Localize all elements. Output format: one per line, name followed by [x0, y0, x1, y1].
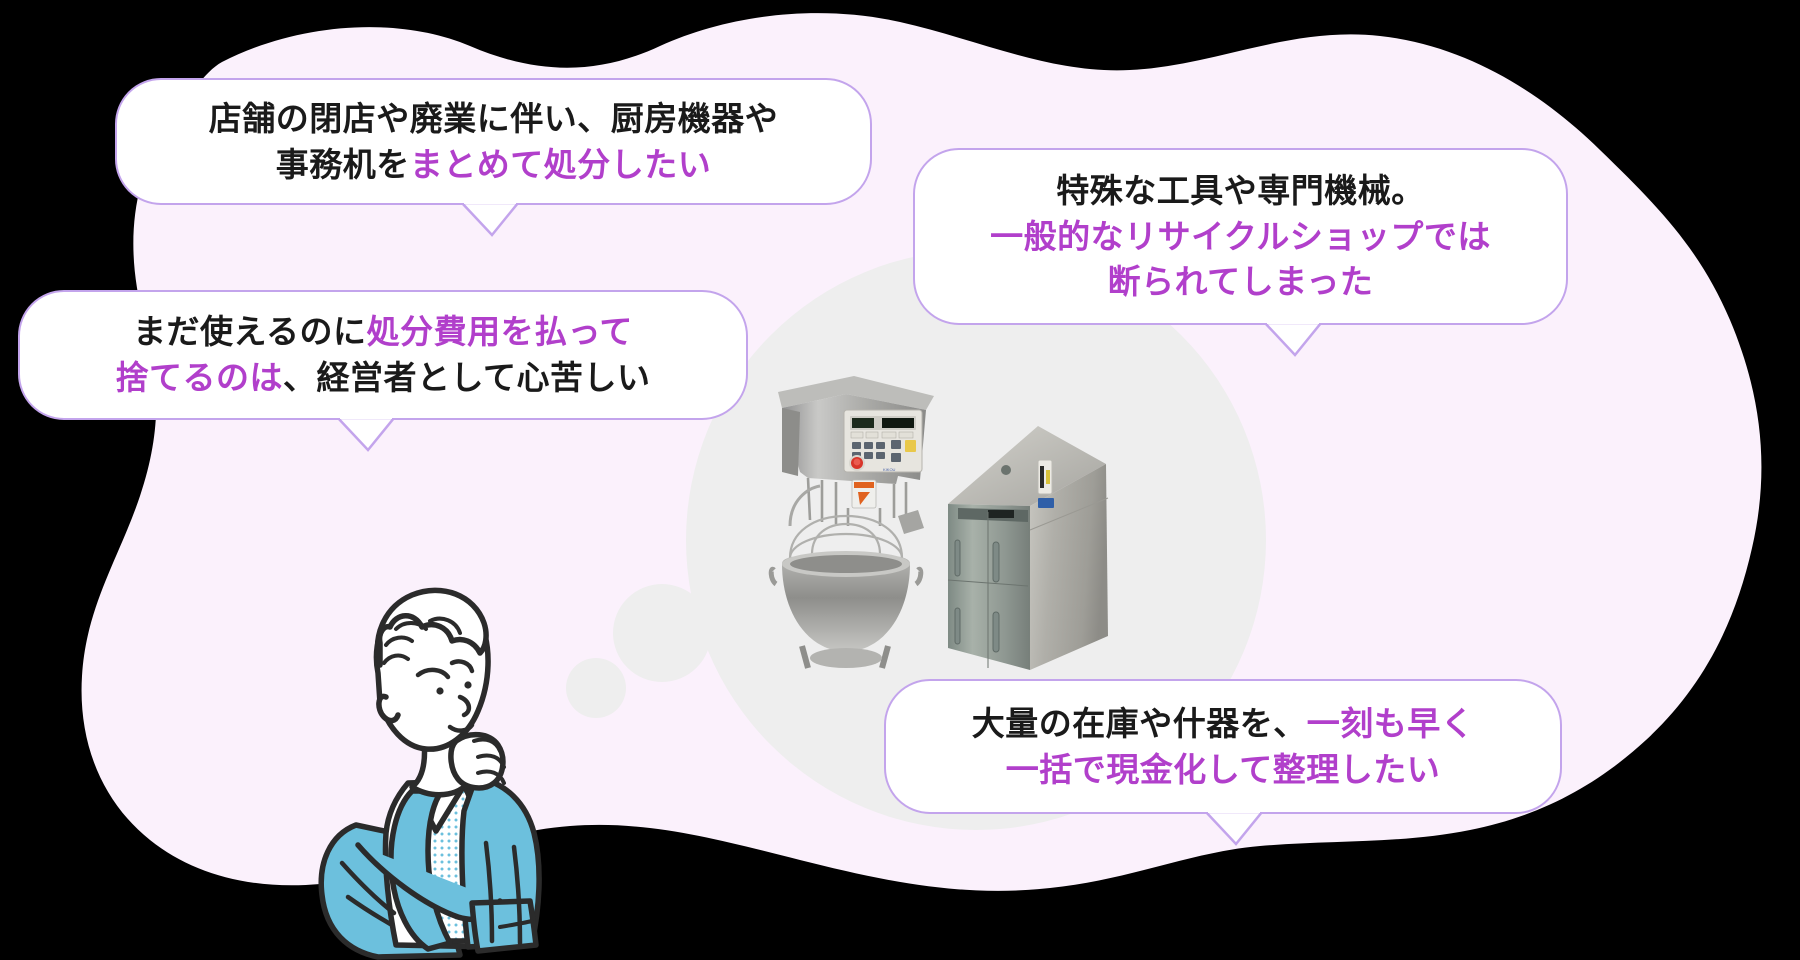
speech-bubble-tail	[338, 418, 394, 452]
speech-bubble-special-tools-line-3: 断られてしまった	[990, 259, 1491, 305]
thought-dot-large	[613, 584, 711, 682]
thinking-businessman-illustration	[300, 545, 600, 960]
speech-bubble-bulk-cash[interactable]: 大量の在庫や什器を、一刻も早く一括で現金化して整理したい	[884, 679, 1562, 814]
highlighted-text: 一刻も早く	[1307, 704, 1475, 743]
highlighted-text: 捨てるのは	[115, 358, 283, 397]
speech-bubble-disposal-cost-line-2: 捨てるのは、経営者として心苦しい	[115, 355, 650, 401]
speech-bubble-bulk-cash-text: 大量の在庫や什器を、一刻も早く一括で現金化して整理したい	[972, 701, 1475, 792]
hero-section: KIKOU	[0, 0, 1800, 960]
speech-bubble-closing-shop[interactable]: 店舗の閉店や廃業に伴い、厨房機器や事務机をまとめて処分したい	[115, 78, 872, 205]
speech-bubble-disposal-cost-text: まだ使えるのに処分費用を払って捨てるのは、経営者として心苦しい	[115, 309, 650, 400]
speech-bubble-closing-shop-line-2: 事務机をまとめて処分したい	[209, 142, 779, 188]
speech-bubble-special-tools-line-1: 特殊な工具や専門機械。	[990, 168, 1491, 214]
svg-text:KIKOU: KIKOU	[883, 467, 896, 472]
highlighted-text: 処分費用を払って	[367, 312, 633, 351]
highlighted-text: 一般的なリサイクルショップでは	[990, 217, 1491, 256]
speech-bubble-disposal-cost-line-1: まだ使えるのに処分費用を払って	[115, 309, 650, 355]
highlighted-text: 一括で現金化して整理したい	[1006, 750, 1441, 789]
speech-bubble-closing-shop-line-1: 店舗の閉店や廃業に伴い、厨房機器や	[209, 96, 779, 142]
plain-text: 、経営者として心苦しい	[283, 358, 651, 397]
speech-bubble-tail	[462, 203, 518, 237]
commercial-refrigerator-photo	[930, 420, 1160, 680]
highlighted-text: 断られてしまった	[1108, 262, 1374, 301]
plain-text: 事務机を	[276, 145, 410, 184]
speech-bubble-tail	[1206, 812, 1262, 846]
highlighted-text: まとめて処分したい	[410, 145, 712, 184]
speech-bubble-tail	[1265, 323, 1321, 357]
speech-bubble-bulk-cash-line-2: 一括で現金化して整理したい	[972, 747, 1475, 793]
plain-text: 大量の在庫や什器を、	[972, 704, 1307, 743]
plain-text: 特殊な工具や専門機械。	[1056, 171, 1425, 210]
speech-bubble-disposal-cost[interactable]: まだ使えるのに処分費用を払って捨てるのは、経営者として心苦しい	[18, 290, 748, 420]
speech-bubble-special-tools-text: 特殊な工具や専門機械。一般的なリサイクルショップでは断られてしまった	[990, 168, 1491, 305]
speech-bubble-closing-shop-text: 店舗の閉店や廃業に伴い、厨房機器や事務机をまとめて処分したい	[209, 96, 779, 187]
industrial-mixer-photo: KIKOU	[748, 358, 944, 674]
speech-bubble-special-tools-line-2: 一般的なリサイクルショップでは	[990, 214, 1491, 260]
plain-text: まだ使えるのに	[133, 312, 367, 351]
speech-bubble-special-tools[interactable]: 特殊な工具や専門機械。一般的なリサイクルショップでは断られてしまった	[913, 148, 1568, 325]
speech-bubble-bulk-cash-line-1: 大量の在庫や什器を、一刻も早く	[972, 701, 1475, 747]
plain-text: 店舗の閉店や廃業に伴い、厨房機器や	[209, 99, 779, 138]
